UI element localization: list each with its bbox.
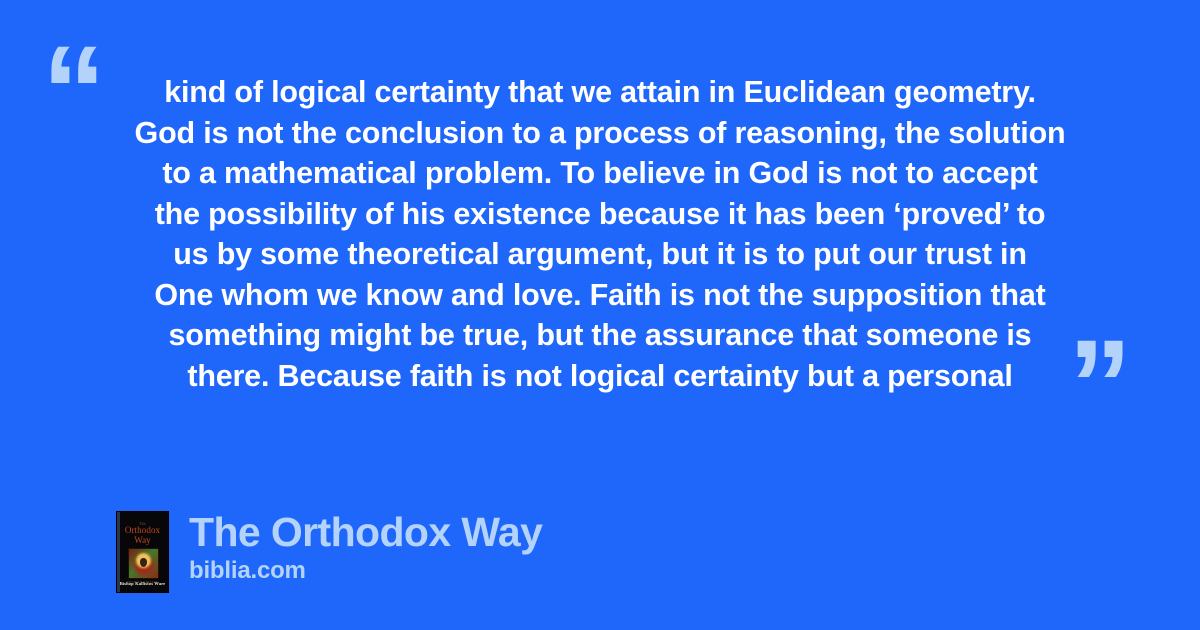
attribution-text: The Orthodox Way biblia.com bbox=[189, 512, 542, 585]
book-cover-title: Orthodox Way bbox=[117, 526, 168, 545]
attribution: The Orthodox Way REVISED EDITION Bishop … bbox=[117, 512, 542, 592]
quote-card: “ kind of logical certainty that we atta… bbox=[0, 0, 1200, 630]
quote-line: kind of logical certainty that we attain… bbox=[106, 72, 1094, 113]
book-cover-thumbnail: The Orthodox Way REVISED EDITION Bishop … bbox=[117, 512, 168, 592]
closing-quote-icon: ” bbox=[1068, 322, 1130, 450]
quote-line: the possibility of his existence because… bbox=[106, 194, 1094, 235]
book-cover-icon-artwork bbox=[128, 548, 159, 579]
book-cover-title-line1: Orthodox bbox=[125, 525, 160, 535]
source-title: The Orthodox Way bbox=[189, 510, 542, 554]
quote-line: something might be true, but the assuran… bbox=[106, 315, 1094, 356]
quote-text-block: kind of logical certainty that we attain… bbox=[106, 72, 1094, 396]
quote-line: One whom we know and love. Faith is not … bbox=[106, 275, 1094, 316]
opening-quote-icon: “ bbox=[42, 28, 104, 156]
quote-line: us by some theoretical argument, but it … bbox=[106, 234, 1094, 275]
quote-line: to a mathematical problem. To believe in… bbox=[106, 153, 1094, 194]
face-icon bbox=[140, 558, 147, 567]
quote-line: God is not the conclusion to a process o… bbox=[106, 113, 1094, 154]
book-cover-title-line2: Way bbox=[134, 535, 151, 545]
book-cover-author: Bishop Kallistos Ware bbox=[117, 581, 168, 586]
source-site: biblia.com bbox=[189, 557, 542, 585]
quote-line: there. Because faith is not logical cert… bbox=[106, 356, 1094, 397]
